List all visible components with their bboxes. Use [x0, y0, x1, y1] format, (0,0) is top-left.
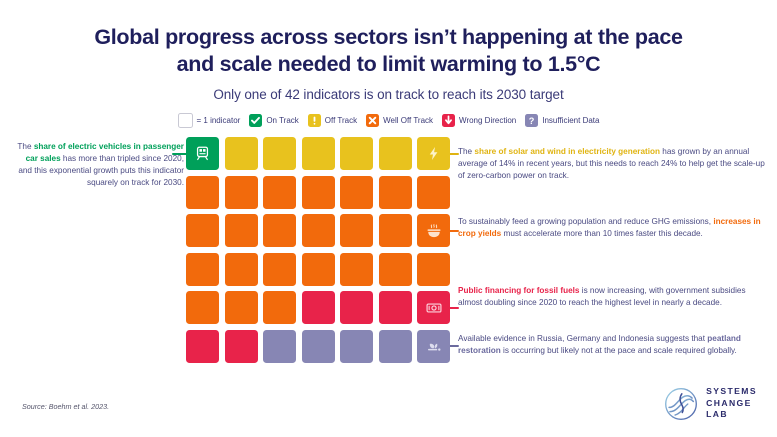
indicator-cell[interactable]: [302, 330, 335, 363]
indicator-cell-electric-vehicles[interactable]: [186, 137, 219, 170]
title-line-2: and scale needed to limit warming to 1.5…: [38, 51, 739, 78]
indicator-cell[interactable]: [379, 176, 412, 209]
indicator-cell[interactable]: [186, 330, 219, 363]
lightning-bolt-icon: [425, 145, 442, 162]
logo-wordmark: SYSTEMS CHANGE LAB: [706, 386, 757, 421]
indicator-cell[interactable]: [340, 176, 373, 209]
annotation-solar-wind: The share of solar and wind in electrici…: [458, 146, 770, 182]
logo-line-2: CHANGE: [706, 398, 757, 410]
exclamation-icon: [308, 114, 321, 127]
indicator-cell[interactable]: [263, 253, 296, 286]
annotation-lead: To sustainably feed a growing population…: [458, 217, 713, 226]
indicator-cell[interactable]: [379, 330, 412, 363]
indicator-cell[interactable]: [263, 291, 296, 324]
annotation-rest: is occurring but likely not at the pace …: [501, 346, 737, 355]
indicator-cell[interactable]: [379, 291, 412, 324]
annotation-lead: The: [458, 147, 474, 156]
indicator-cell[interactable]: [340, 291, 373, 324]
annotation-highlight: Public financing for fossil fuels: [458, 286, 579, 295]
indicator-cell-fossil-fuels[interactable]: [417, 291, 450, 324]
logo-line-1: SYSTEMS: [706, 386, 757, 398]
indicator-cell[interactable]: [379, 137, 412, 170]
legend-label-on-track: On Track: [266, 116, 298, 125]
electric-vehicle-icon: [194, 145, 211, 162]
indicator-cell[interactable]: [263, 137, 296, 170]
indicator-cell-crop-yields[interactable]: [417, 214, 450, 247]
indicator-cell[interactable]: [263, 176, 296, 209]
indicator-cell[interactable]: [379, 214, 412, 247]
indicator-cell[interactable]: [417, 176, 450, 209]
legend-label-wrong-direction: Wrong Direction: [459, 116, 516, 125]
indicator-cell[interactable]: [379, 253, 412, 286]
page-title: Global progress across sectors isn’t hap…: [38, 24, 739, 78]
legend-label-off-track: Off Track: [325, 116, 357, 125]
indicator-cell[interactable]: [340, 253, 373, 286]
indicator-cell[interactable]: [186, 214, 219, 247]
annotation-lead: Available evidence in Russia, Germany an…: [458, 334, 707, 343]
legend-label-insufficient-data: Insufficient Data: [542, 116, 599, 125]
indicator-cell[interactable]: [302, 176, 335, 209]
swirl-logo-icon: [664, 387, 698, 421]
legend-item-on-track: On Track: [249, 114, 298, 127]
indicator-cell[interactable]: [186, 176, 219, 209]
legend-item-well-off-track: Well Off Track: [366, 114, 433, 127]
check-icon: [249, 114, 262, 127]
indicator-cell[interactable]: [302, 253, 335, 286]
indicator-cell-solar-wind[interactable]: [417, 137, 450, 170]
legend-item-one-indicator: = 1 indicator: [178, 113, 241, 128]
indicator-cell[interactable]: [186, 291, 219, 324]
legend-label-well-off-track: Well Off Track: [383, 116, 433, 125]
x-icon: [366, 114, 379, 127]
svg-text:?: ?: [529, 116, 535, 126]
question-icon: ?: [525, 114, 538, 127]
legend-item-insufficient-data: ? Insufficient Data: [525, 114, 599, 127]
indicator-cell[interactable]: [225, 214, 258, 247]
indicator-cell[interactable]: [225, 253, 258, 286]
indicator-grid-wrapper: [186, 137, 450, 363]
page-subtitle: Only one of 42 indicators is on track to…: [0, 87, 777, 102]
indicator-cell[interactable]: [225, 176, 258, 209]
annotation-rest: must accelerate more than 10 times faste…: [501, 229, 703, 238]
title-line-1: Global progress across sectors isn’t hap…: [38, 24, 739, 51]
banknote-icon: [425, 299, 443, 317]
indicator-cell-peatland[interactable]: [417, 330, 450, 363]
legend-item-off-track: Off Track: [308, 114, 357, 127]
annotation-peatland: Available evidence in Russia, Germany an…: [458, 333, 770, 357]
legend: = 1 indicator On Track Off Track Well Of…: [0, 113, 777, 128]
indicator-cell[interactable]: [263, 330, 296, 363]
indicator-cell[interactable]: [417, 253, 450, 286]
source-note: Source: Boehm et al. 2023.: [22, 402, 109, 411]
empty-square-icon: [178, 113, 193, 128]
peatland-icon: [425, 337, 443, 355]
indicator-cell[interactable]: [263, 214, 296, 247]
chart-body: The share of electric vehicles in passen…: [0, 137, 777, 382]
systems-change-lab-logo: SYSTEMS CHANGE LAB: [664, 386, 757, 421]
indicator-cell[interactable]: [225, 291, 258, 324]
annotation-electric-vehicles: The share of electric vehicles in passen…: [12, 141, 184, 189]
indicator-cell[interactable]: [225, 330, 258, 363]
header: Global progress across sectors isn’t hap…: [0, 0, 777, 102]
annotation-highlight: share of solar and wind in electricity g…: [474, 147, 660, 156]
indicator-cell[interactable]: [186, 253, 219, 286]
annotation-fossil-fuels: Public financing for fossil fuels is now…: [458, 285, 770, 309]
annotation-lead: The: [17, 142, 33, 151]
down-arrow-icon: [442, 114, 455, 127]
indicator-grid: [186, 137, 450, 363]
indicator-cell[interactable]: [340, 330, 373, 363]
legend-label-one-indicator: = 1 indicator: [197, 116, 241, 125]
indicator-cell[interactable]: [340, 214, 373, 247]
legend-item-wrong-direction: Wrong Direction: [442, 114, 516, 127]
annotation-crop-yields: To sustainably feed a growing population…: [458, 216, 770, 240]
indicator-cell[interactable]: [302, 291, 335, 324]
indicator-cell[interactable]: [302, 137, 335, 170]
indicator-cell[interactable]: [225, 137, 258, 170]
food-bowl-icon: [425, 222, 443, 240]
indicator-cell[interactable]: [302, 214, 335, 247]
indicator-cell[interactable]: [340, 137, 373, 170]
logo-line-3: LAB: [706, 409, 757, 421]
